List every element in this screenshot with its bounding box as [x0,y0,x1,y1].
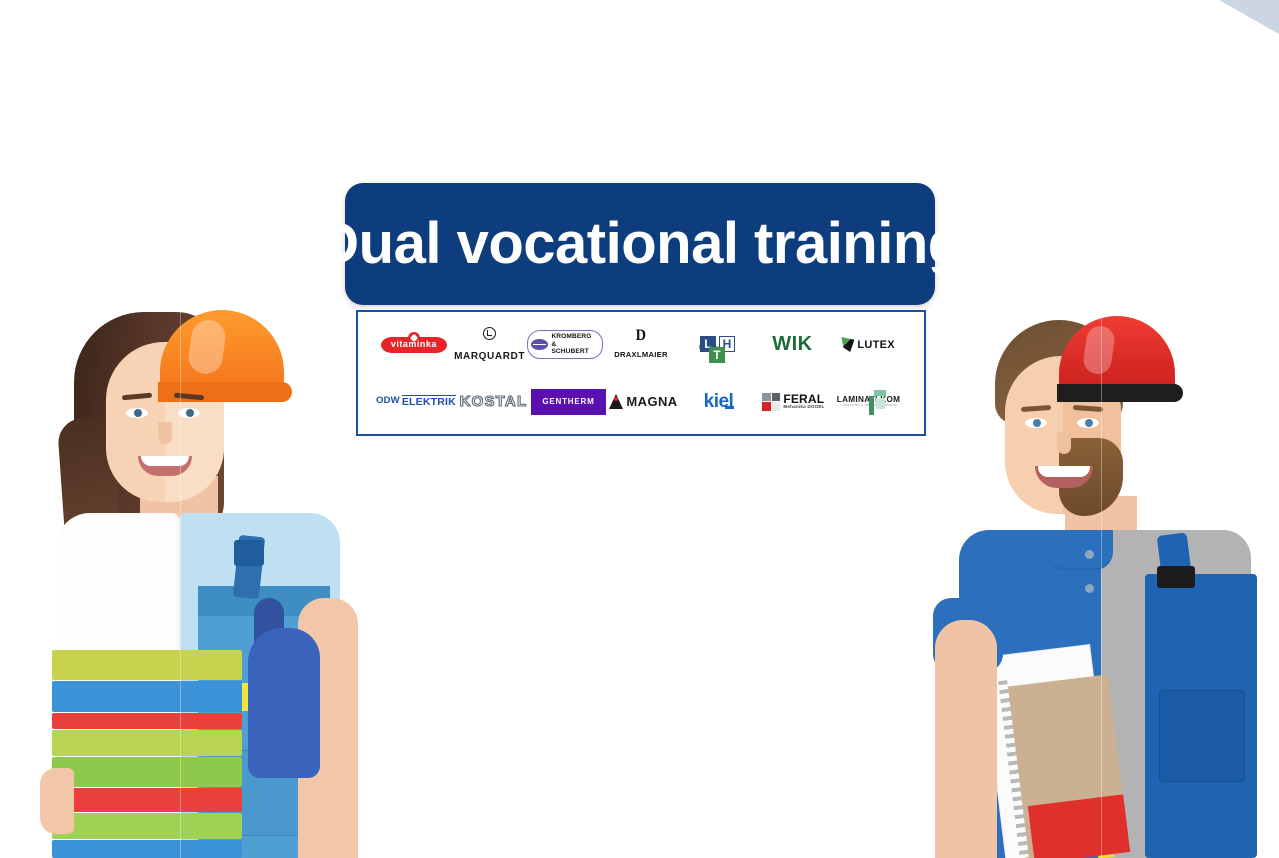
left-person-book-stack [52,650,242,858]
gentherm-label: GENTHERM [531,389,605,415]
kromberg-emblem-icon [531,339,548,350]
partner-logo-laminati-kom[interactable]: LAMINATI KOM Composites & laminating sys… [831,373,906,430]
feral-sublabel: Mehanika DOOEL [783,405,824,410]
poster-canvas: Dual vocational training vitaminka MARQU… [0,0,1279,858]
right-person-split-seam [1101,298,1102,858]
vitaminka-label: vitaminka [391,339,437,349]
left-person-image [22,298,362,858]
left-person-nose [158,422,172,444]
left-person-hand [40,768,74,834]
partner-logo-row-1: vitaminka MARQUARDT KROMBERG & SCHUBERT [364,316,918,373]
partner-logo-panel: vitaminka MARQUARDT KROMBERG & SCHUBERT [356,310,926,436]
lth-block-t: T [709,347,725,363]
left-person-pupil-right [186,409,194,417]
corner-wedge-decoration [1219,0,1279,34]
page-title: Dual vocational training [317,215,962,273]
wik-label: WIK [772,333,812,356]
left-person-hard-hat-brim [158,382,292,402]
odw-label-part1: ODW [376,395,400,406]
partner-logo-magna[interactable]: MAGNA [606,373,681,430]
headline-banner: Dual vocational training [345,183,935,305]
kiel-label: kiel [704,391,734,413]
partner-logo-feral[interactable]: FERAL Mehanika DOOEL [756,373,831,430]
left-person-pupil-left [134,409,142,417]
magna-emblem-icon [609,394,623,409]
lutex-leaf-icon [841,337,854,352]
partner-logo-kostal[interactable]: KOSTAL [456,373,531,430]
right-person-pupil-left [1033,419,1041,427]
partner-logo-odw-elektrik[interactable]: ODW ELEKTRIK [376,373,456,430]
right-person-polo-button-top [1085,550,1094,559]
right-person-red-book [1028,794,1130,858]
odw-label-part2: ELEKTRIK [402,395,456,409]
magna-label: MAGNA [626,394,677,409]
right-person-arm [935,620,997,858]
kostal-label: KOSTAL [460,393,528,410]
left-person-teeth [141,456,189,466]
draxlmaier-label: DRAXLMAIER [614,350,668,359]
feral-emblem-icon [762,393,780,411]
right-person-overall-buckle [1157,566,1195,588]
right-person-hard-hat-brim [1057,384,1183,402]
left-person-work-glove [248,628,320,778]
partner-logo-gentherm[interactable]: GENTHERM [531,373,606,430]
marquardt-emblem-icon [483,327,496,340]
left-person-overall-buckle [234,540,264,566]
partner-logo-kiel[interactable]: kiel [681,373,756,430]
draxlmaier-emblem-icon: D [617,328,665,344]
right-person-overall-pocket [1159,690,1245,782]
partner-logo-lutex[interactable]: LUTEX [830,316,906,373]
partner-logo-kromberg-schubert[interactable]: KROMBERG & SCHUBERT [527,316,603,373]
marquardt-label: MARQUARDT [454,351,525,362]
right-person-teeth [1038,466,1090,477]
right-person-polo-button-bottom [1085,584,1094,593]
partner-logo-wik[interactable]: WIK [755,316,831,373]
right-person-nose [1057,432,1071,454]
right-person-polo-collar [1047,530,1113,570]
right-person-image [909,298,1279,858]
partner-logo-draxlmaier[interactable]: D DRAXLMAIER [603,316,679,373]
partner-logo-marquardt[interactable]: MARQUARDT [452,316,528,373]
partner-logo-row-2: ODW ELEKTRIK KOSTAL GENTHERM MAGNA kiel [364,373,918,430]
left-person-split-seam [180,298,181,858]
kromberg-label-line2: & SCHUBERT [551,341,594,356]
kromberg-label-line1: KROMBERG [551,333,594,340]
right-person-pupil-right [1085,419,1093,427]
lutex-label: LUTEX [857,339,895,351]
partner-logo-lth-learnica[interactable]: L H T LTH Learnica [679,316,755,373]
partner-logo-vitaminka[interactable]: vitaminka [376,316,452,373]
